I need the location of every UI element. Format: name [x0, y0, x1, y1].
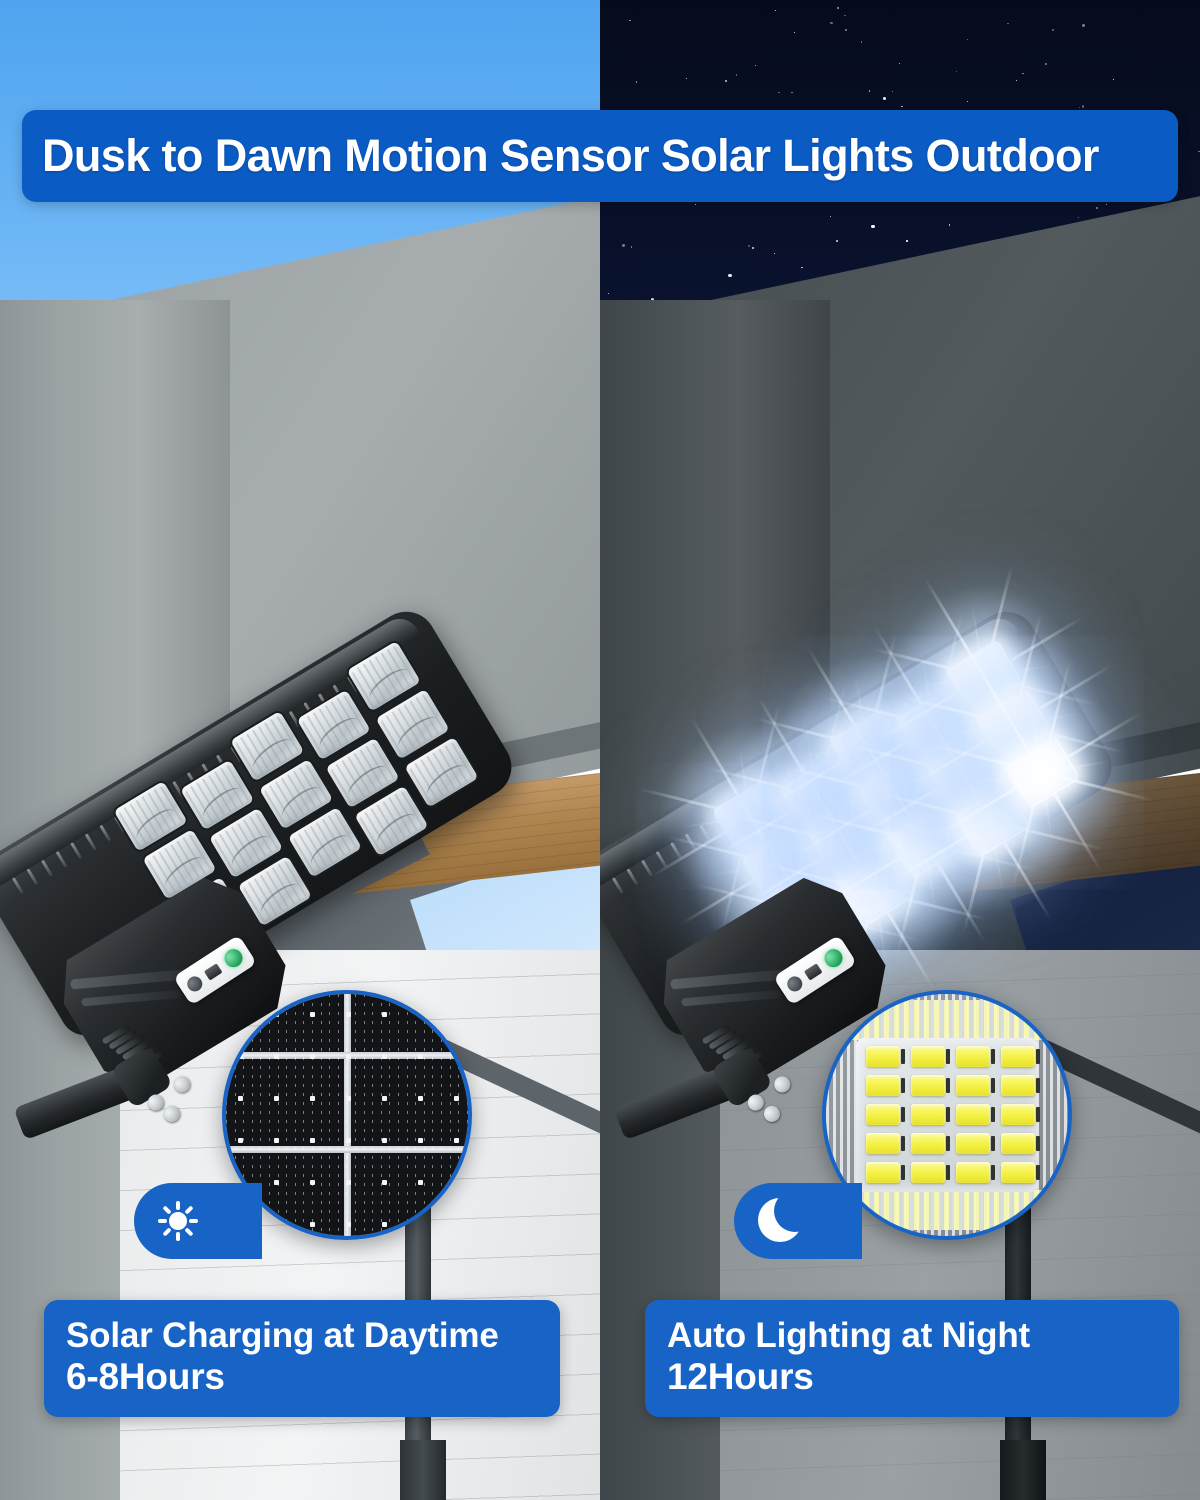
power-indicator-icon [221, 946, 246, 971]
caption-line2: 12Hours [667, 1355, 1157, 1399]
led-chip [956, 1104, 990, 1125]
indicator-slot [804, 963, 823, 980]
solar-street-light-night [600, 332, 1200, 892]
caption-line1: Solar Charging at Daytime [66, 1316, 538, 1355]
solar-panel-macro [226, 994, 468, 1236]
led-chip [1001, 1104, 1035, 1125]
moon-icon [754, 1195, 806, 1247]
led-chip [911, 1133, 945, 1154]
led-chip [911, 1162, 945, 1183]
motion-sensor-icon [184, 974, 205, 995]
led-chip [1001, 1046, 1035, 1067]
panel-night: Auto Lighting at Night 12Hours [600, 0, 1200, 1500]
badge-daytime [134, 1183, 262, 1259]
caption-night: Auto Lighting at Night 12Hours [645, 1300, 1179, 1417]
led-chip [956, 1162, 990, 1183]
led-chip [866, 1104, 900, 1125]
motion-sensor-icon [784, 974, 805, 995]
product-marketing-image: Solar Charging at Daytime 6-8Hours [0, 0, 1200, 1500]
sun-ray [189, 1219, 198, 1223]
sun-ray [176, 1201, 180, 1210]
led-chip [866, 1162, 900, 1183]
led-chip [911, 1046, 945, 1067]
caption-line2: 6-8Hours [66, 1355, 538, 1399]
led-chip [956, 1075, 990, 1096]
led-chip [1001, 1162, 1035, 1183]
led-chip [956, 1133, 990, 1154]
led-chip [1001, 1075, 1035, 1096]
title-banner: Dusk to Dawn Motion Sensor Solar Lights … [22, 110, 1178, 202]
sun-ray [158, 1219, 167, 1223]
caption-line1: Auto Lighting at Night [667, 1316, 1157, 1355]
led-chip [866, 1046, 900, 1067]
sun-ray [176, 1232, 180, 1241]
caption-daytime: Solar Charging at Daytime 6-8Hours [44, 1300, 560, 1417]
sun-icon [154, 1197, 202, 1245]
led-chip [911, 1104, 945, 1125]
led-chip [911, 1075, 945, 1096]
led-chip-macro [826, 994, 1068, 1236]
lamp-pole-base-day [400, 1440, 446, 1500]
led-chip [866, 1075, 900, 1096]
badge-night [734, 1183, 862, 1259]
led-chip [956, 1046, 990, 1067]
sun-ray [162, 1227, 171, 1236]
sun-ray [184, 1227, 193, 1236]
led-chip [866, 1133, 900, 1154]
lamp-pole-base-night [1000, 1440, 1046, 1500]
indicator-slot [204, 963, 223, 980]
page-title: Dusk to Dawn Motion Sensor Solar Lights … [22, 130, 1099, 182]
sun-ray [162, 1205, 171, 1214]
power-indicator-icon [821, 946, 846, 971]
solar-street-light-day [0, 332, 600, 892]
panel-daytime: Solar Charging at Daytime 6-8Hours [0, 0, 600, 1500]
sun-ray [184, 1205, 193, 1214]
led-chip [1001, 1133, 1035, 1154]
